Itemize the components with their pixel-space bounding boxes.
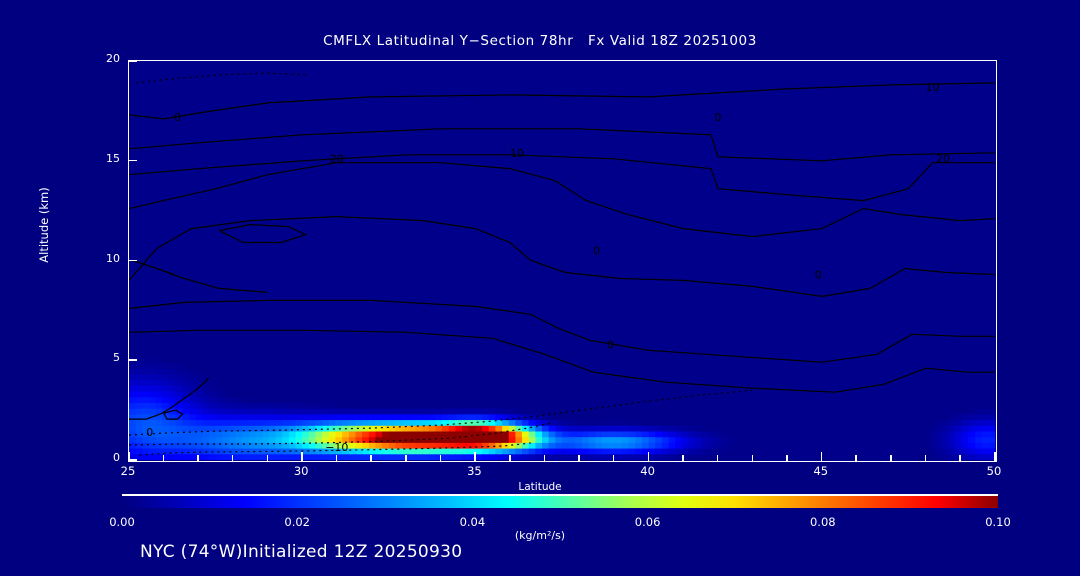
x-tick-mark	[821, 452, 823, 462]
x-tick-mark	[370, 455, 372, 462]
y-tick-mark	[128, 60, 137, 62]
x-tick-mark	[648, 452, 650, 462]
contour-label: 0	[714, 111, 721, 124]
x-tick-mark	[925, 455, 927, 462]
x-tick-mark	[301, 452, 303, 462]
colorbar	[122, 494, 998, 510]
y-tick-label: 0	[88, 451, 120, 464]
x-tick-label: 30	[277, 464, 325, 478]
x-tick-mark	[440, 455, 442, 462]
x-tick-mark	[890, 455, 892, 462]
y-tick-label: 20	[88, 52, 120, 65]
x-tick-mark	[336, 455, 338, 462]
contour-line	[167, 273, 268, 293]
x-axis-title: Latitude	[0, 481, 1080, 493]
footer-label: NYC (74°W)Initialized 12Z 20250930	[140, 542, 462, 562]
contour-label: 0	[815, 269, 822, 282]
plot-canvas: 0−100201001020000	[129, 61, 995, 460]
colorbar-tick-label: 0.06	[618, 515, 678, 529]
x-tick-mark	[405, 455, 407, 462]
x-tick-label: 50	[970, 464, 1018, 478]
x-tick-label: 45	[797, 464, 845, 478]
x-tick-mark	[578, 455, 580, 462]
x-tick-mark	[267, 455, 269, 462]
x-tick-mark	[232, 455, 234, 462]
contour-line	[129, 83, 995, 119]
contour-label: 0	[607, 338, 614, 351]
x-tick-mark	[855, 455, 857, 462]
contour-line	[129, 330, 995, 392]
colorbar-tick-label: 0.02	[267, 515, 327, 529]
x-tick-mark	[959, 455, 961, 462]
contour-line-dashed	[136, 73, 309, 83]
contour-label: −10	[325, 441, 348, 454]
colorbar-tick-label: 0.10	[968, 515, 1028, 529]
x-tick-mark	[197, 455, 199, 462]
x-tick-mark	[613, 455, 615, 462]
x-tick-mark	[994, 452, 996, 462]
y-axis-title: Altitude (km)	[37, 165, 51, 285]
contour-label: 10	[926, 81, 940, 94]
x-tick-mark	[682, 455, 684, 462]
contour-label: 20	[936, 153, 950, 166]
colorbar-units: (kg/m²/s)	[0, 529, 1080, 542]
x-tick-mark	[474, 452, 476, 462]
x-tick-mark	[544, 455, 546, 462]
x-tick-mark	[128, 452, 130, 462]
y-tick-label: 5	[88, 351, 120, 364]
colorbar-tick-label: 0.08	[793, 515, 853, 529]
y-tick-label: 10	[88, 252, 120, 265]
plot-area: 0−100201001020000	[128, 60, 997, 462]
contour-line	[129, 217, 995, 297]
contour-label: 10	[510, 147, 524, 160]
contour-line	[129, 155, 995, 201]
x-tick-mark	[786, 455, 788, 462]
contour-label: 20	[330, 153, 344, 166]
x-tick-mark	[509, 455, 511, 462]
contour-label: 0	[593, 245, 600, 258]
x-tick-label: 25	[104, 464, 152, 478]
colorbar-tick-label: 0.04	[442, 515, 502, 529]
shaded-flux-field	[129, 357, 995, 460]
x-tick-label: 40	[624, 464, 672, 478]
y-tick-label: 15	[88, 152, 120, 165]
contour-line	[129, 300, 995, 362]
contour-label: 0	[174, 111, 181, 124]
colorbar-gradient	[122, 496, 998, 508]
contour-line	[219, 225, 306, 243]
contour-line	[129, 129, 995, 161]
y-tick-mark	[128, 359, 137, 361]
contour-label: 0	[146, 426, 153, 439]
y-tick-mark	[128, 260, 137, 262]
y-tick-mark	[128, 160, 137, 162]
x-tick-mark	[163, 455, 165, 462]
x-tick-mark	[752, 455, 754, 462]
x-tick-label: 35	[450, 464, 498, 478]
x-tick-mark	[717, 455, 719, 462]
chart-canvas: CMFLX Latitudinal Y−Section 78hr Fx Vali…	[0, 0, 1080, 576]
colorbar-tick-label: 0.00	[92, 515, 152, 529]
chart-title: CMFLX Latitudinal Y−Section 78hr Fx Vali…	[0, 33, 1080, 49]
